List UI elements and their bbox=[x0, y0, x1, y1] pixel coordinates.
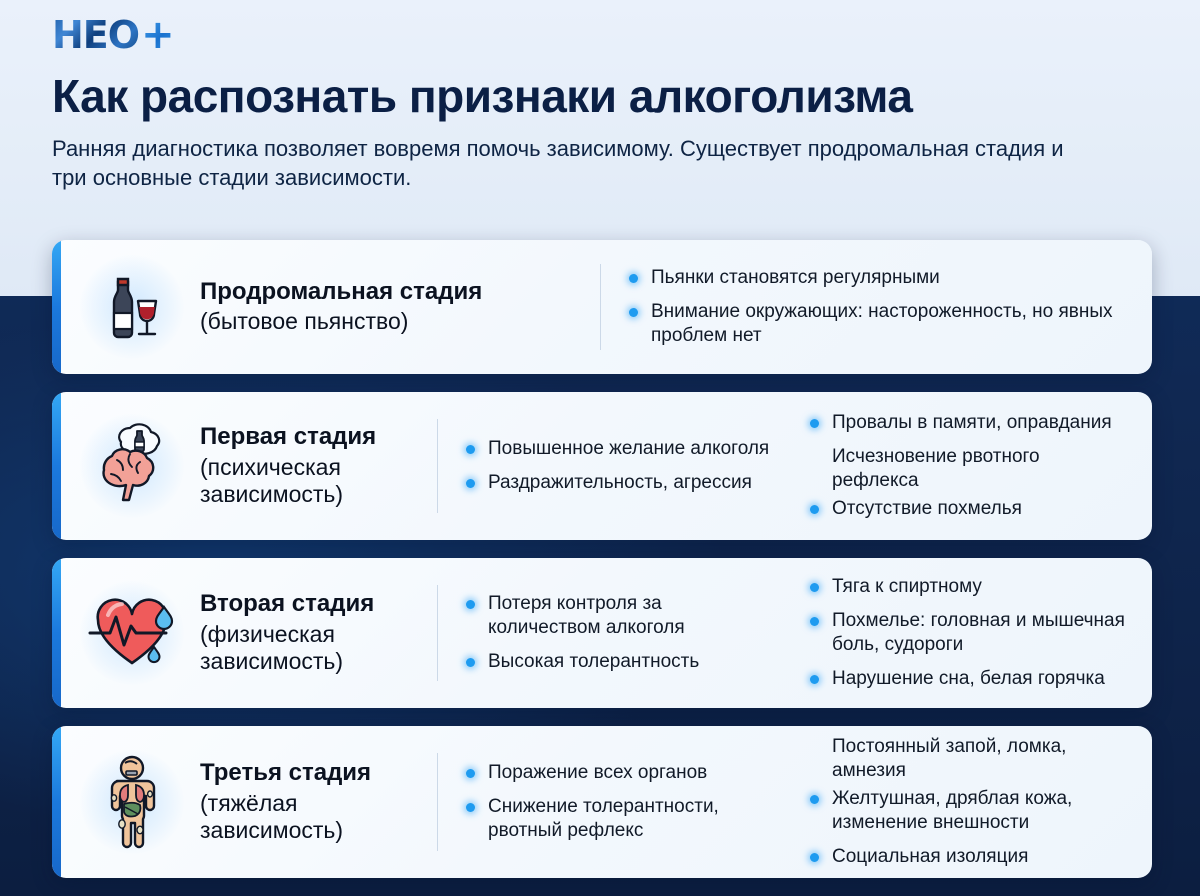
symptom-columns: Пьянки становятся регулярными Внимание о… bbox=[601, 240, 1152, 374]
symptom-column: Потеря контроля за количеством алкоголя … bbox=[438, 592, 788, 674]
stage-name: Третья стадия bbox=[200, 759, 437, 787]
stage-label-group: Продромальная стадия (бытовое пьянство) bbox=[200, 278, 482, 336]
page-title: Как распознать признаки алкоголизма bbox=[52, 72, 1152, 122]
stage-subtitle: (психическая зависимость) bbox=[200, 454, 437, 509]
brand-name: НЕО bbox=[52, 13, 139, 57]
list-item: Нарушение сна, белая горячка bbox=[810, 667, 1128, 691]
symptom-column: Поражение всех органов Снижение толерант… bbox=[438, 761, 788, 843]
symptom-column: Пьянки становятся регулярными Внимание о… bbox=[601, 266, 1138, 348]
list-item: Социальная изоляция bbox=[810, 845, 1128, 869]
list-item: Постоянный запой, ломка, амнезия bbox=[810, 735, 1128, 783]
stage-label-group: Вторая стадия (физическая зависимость) bbox=[200, 590, 437, 676]
list-item: Потеря контроля за количеством алкоголя bbox=[466, 592, 778, 640]
stage-subtitle: (физическая зависимость) bbox=[200, 621, 437, 676]
stage-identity: Третья стадия (тяжёлая зависимость) bbox=[52, 726, 437, 878]
stage-card: Вторая стадия (физическая зависимость) П… bbox=[52, 558, 1152, 708]
brain-thought-icon bbox=[80, 414, 184, 518]
stage-name: Вторая стадия bbox=[200, 590, 437, 618]
heart-pulse-icon bbox=[80, 581, 184, 685]
wine-bottle-glass-icon bbox=[80, 255, 184, 359]
header: НЕО+ Как распознать признаки алкоголизма… bbox=[52, 14, 1152, 193]
list-item: Снижение толерантности, рвотный рефлекс bbox=[466, 795, 778, 843]
symptom-column: Провалы в памяти, оправдания Исчезновени… bbox=[788, 411, 1138, 521]
stage-identity: Первая стадия (психическая зависимость) bbox=[52, 392, 437, 540]
stage-subtitle: (бытовое пьянство) bbox=[200, 308, 482, 336]
stage-name: Первая стадия bbox=[200, 423, 437, 451]
list-item: Желтушная, дряблая кожа, изменение внешн… bbox=[810, 787, 1128, 835]
symptom-columns: Потеря контроля за количеством алкоголя … bbox=[438, 558, 1152, 708]
list-item: Поражение всех органов bbox=[466, 761, 778, 785]
stage-identity: Вторая стадия (физическая зависимость) bbox=[52, 558, 437, 708]
list-item: Раздражительность, агрессия bbox=[466, 471, 778, 495]
symptom-columns: Поражение всех органов Снижение толерант… bbox=[438, 726, 1152, 878]
stage-card-list: Продромальная стадия (бытовое пьянство) … bbox=[52, 240, 1152, 896]
stage-label-group: Третья стадия (тяжёлая зависимость) bbox=[200, 759, 437, 845]
list-item: Исчезновение рвотного рефлекса bbox=[810, 445, 1128, 493]
stage-card: Продромальная стадия (бытовое пьянство) … bbox=[52, 240, 1152, 374]
list-item: Внимание окружающих: настороженность, но… bbox=[629, 300, 1128, 348]
stage-identity: Продромальная стадия (бытовое пьянство) bbox=[52, 240, 600, 374]
stage-name: Продромальная стадия bbox=[200, 278, 482, 306]
brand-plus-icon: + bbox=[141, 12, 175, 58]
symptom-column: Повышенное желание алкоголя Раздражитель… bbox=[438, 437, 788, 495]
list-item: Повышенное желание алкоголя bbox=[466, 437, 778, 461]
human-body-organs-icon bbox=[80, 750, 184, 854]
list-item: Отсутствие похмелья bbox=[810, 497, 1128, 521]
list-item: Тяга к спиртному bbox=[810, 575, 1128, 599]
list-item: Провалы в памяти, оправдания bbox=[810, 411, 1128, 435]
list-item: Похмелье: головная и мышечная боль, судо… bbox=[810, 609, 1128, 657]
list-item: Высокая толерантность bbox=[466, 650, 778, 674]
brand-logo: НЕО+ bbox=[52, 14, 1152, 56]
stage-subtitle: (тяжёлая зависимость) bbox=[200, 790, 437, 845]
infographic-page: НЕО+ Как распознать признаки алкоголизма… bbox=[0, 0, 1200, 896]
stage-label-group: Первая стадия (психическая зависимость) bbox=[200, 423, 437, 509]
symptom-column: Тяга к спиртному Похмелье: головная и мы… bbox=[788, 575, 1138, 691]
symptom-column: Постоянный запой, ломка, амнезия Желтушн… bbox=[788, 735, 1138, 869]
page-subtitle: Ранняя диагностика позволяет вовремя пом… bbox=[52, 134, 1082, 193]
list-item: Пьянки становятся регулярными bbox=[629, 266, 1128, 290]
stage-card: Третья стадия (тяжёлая зависимость) Пора… bbox=[52, 726, 1152, 878]
symptom-columns: Повышенное желание алкоголя Раздражитель… bbox=[438, 392, 1152, 540]
stage-card: Первая стадия (психическая зависимость) … bbox=[52, 392, 1152, 540]
